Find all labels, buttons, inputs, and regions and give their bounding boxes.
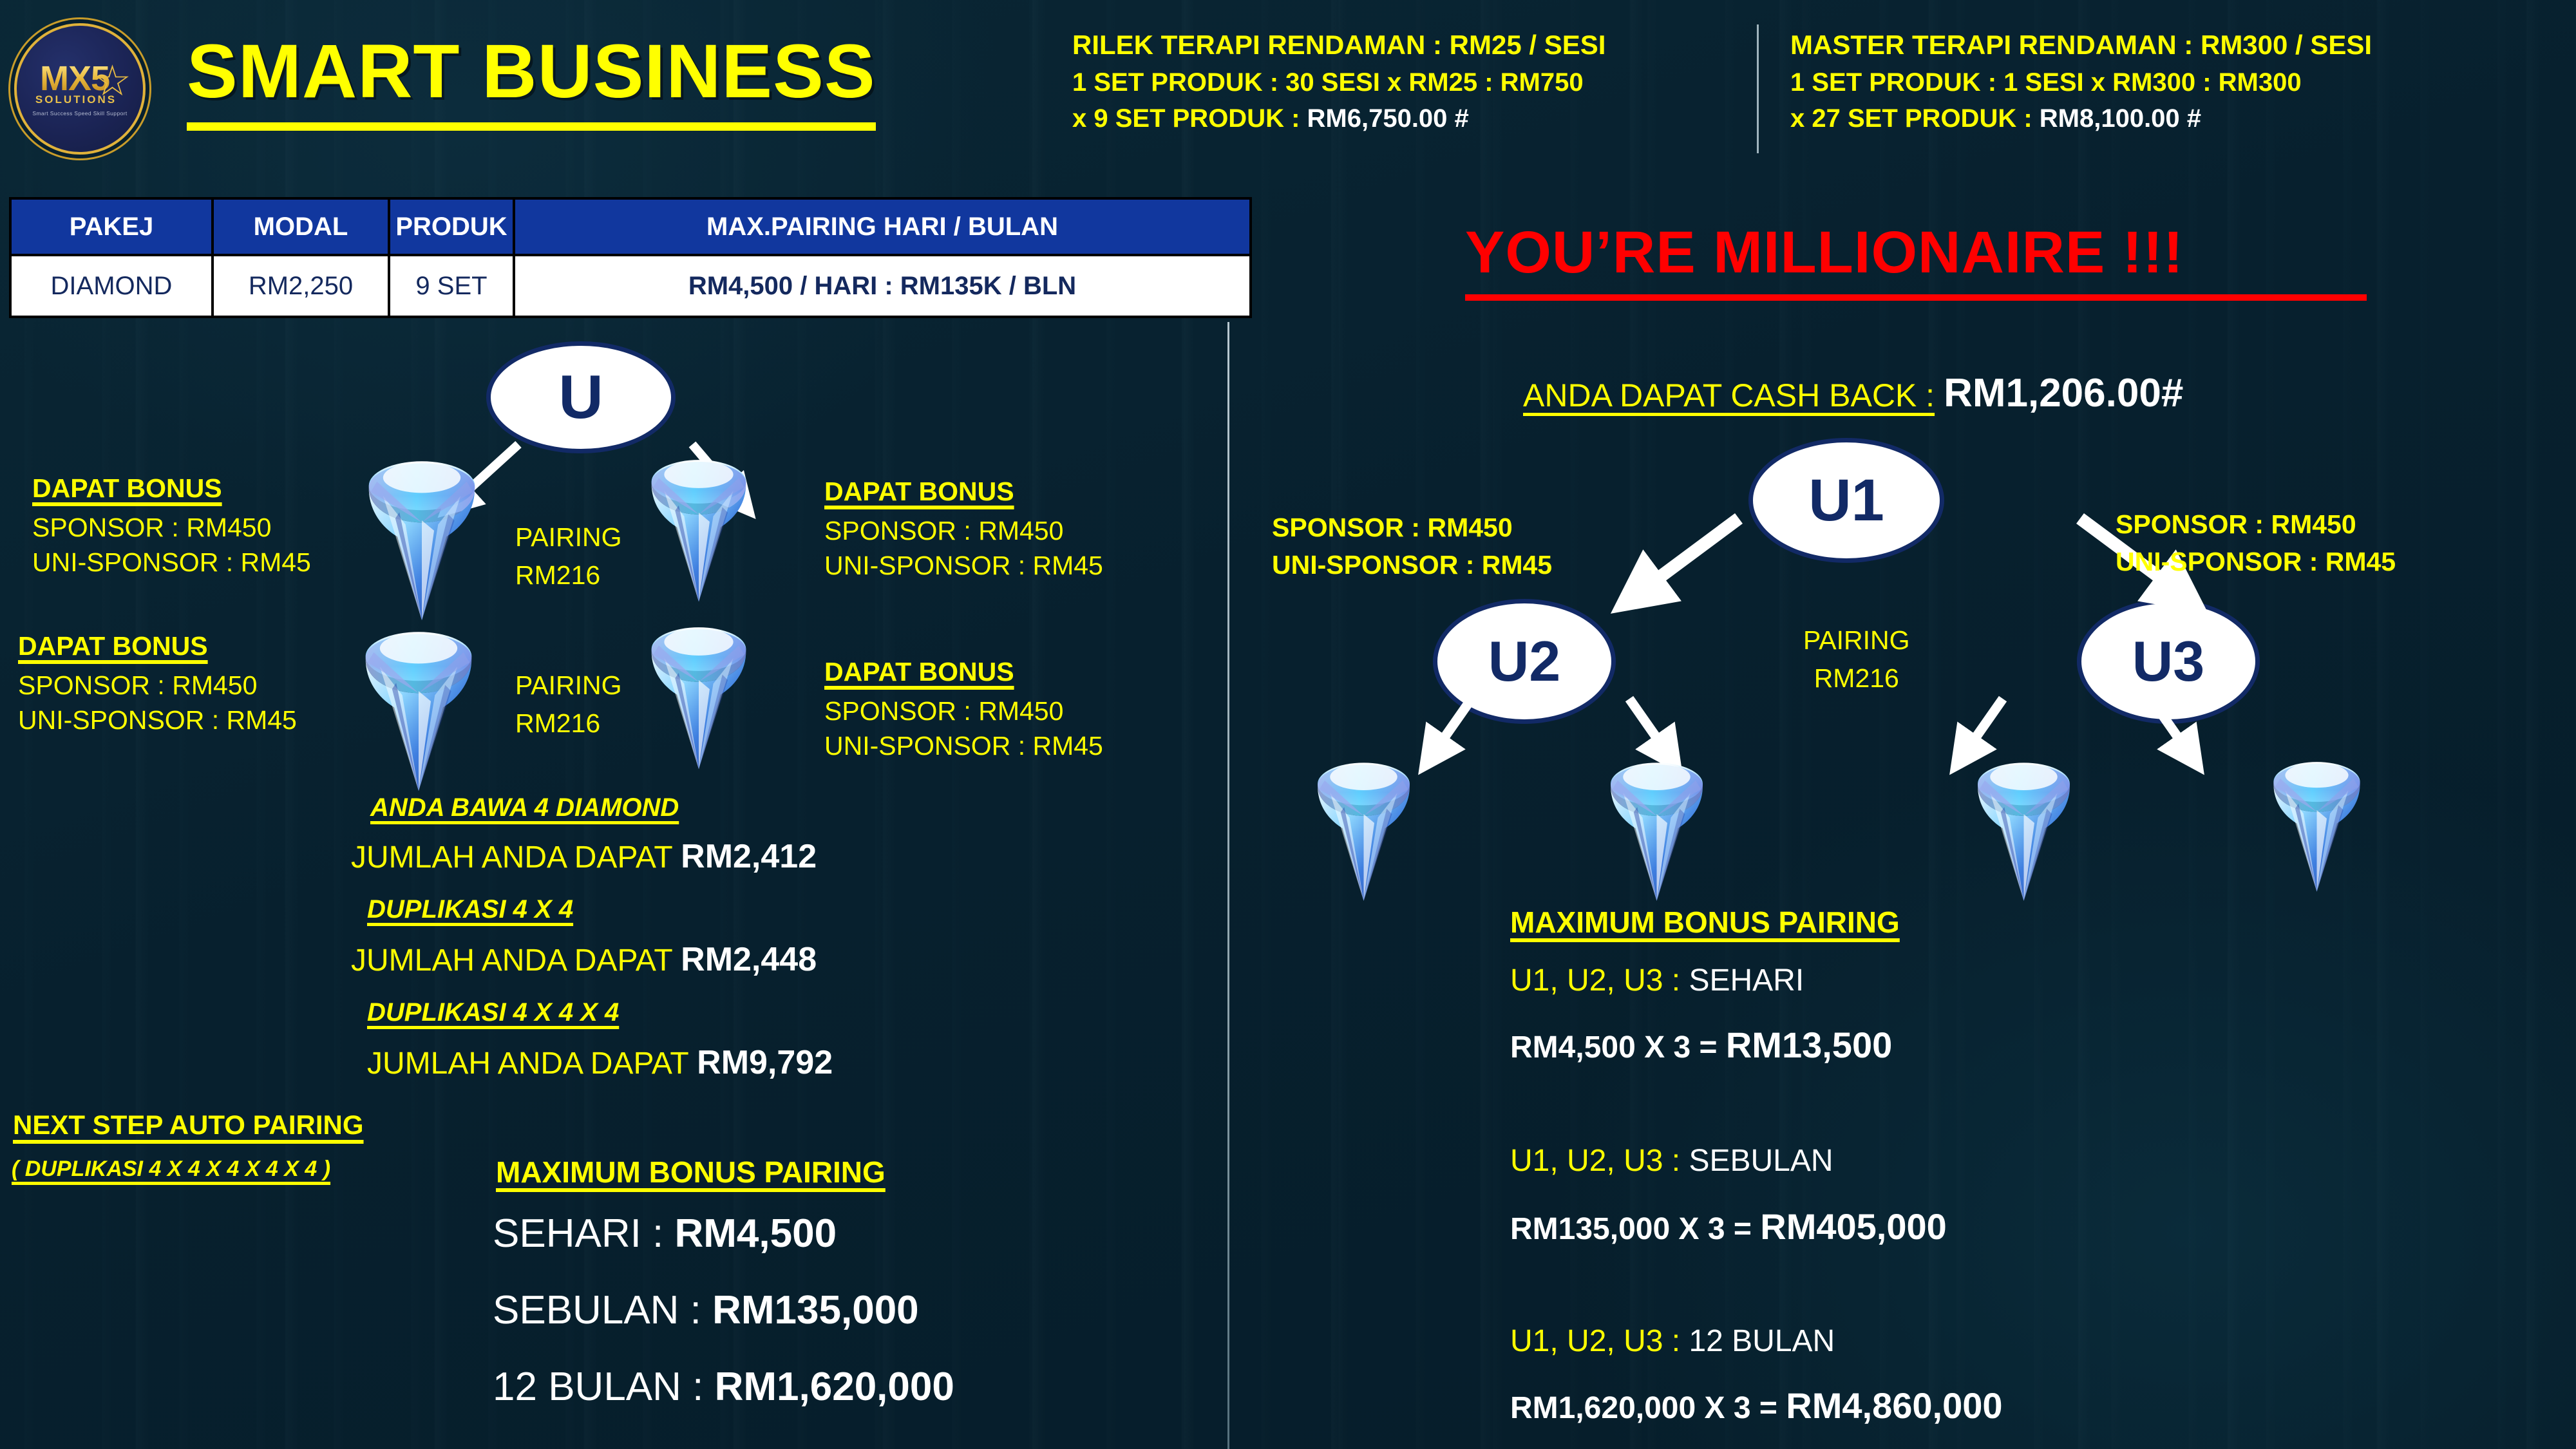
right-max-row-1-calc: RM4,500 X 3 = RM13,500	[1510, 1024, 1892, 1066]
pairing-value-2: RM216	[515, 705, 622, 743]
header-box-master: MASTER TERAPI RENDAMAN : RM300 / SESI 1 …	[1790, 26, 2372, 137]
right-max-bonus-title: MAXIMUM BONUS PAIRING	[1510, 905, 1900, 940]
left-max-row-3-label: 12 BULAN :	[493, 1365, 715, 1409]
package-table: PAKEJ MODAL PRODUK MAX.PAIRING HARI / BU…	[9, 197, 1252, 318]
left-max-row-3: 12 BULAN : RM1,620,000	[493, 1364, 954, 1410]
node-u-label: U	[558, 362, 603, 433]
rilek-total-value: RM6,750.00 #	[1307, 104, 1469, 133]
diamond-icon-3	[357, 621, 480, 795]
logo-tagline: Smart Success Speed Skill Support	[32, 110, 127, 117]
left-max-row-3-value: RM1,620,000	[715, 1365, 954, 1409]
bonus-block-1: DAPAT BONUS SPONSOR : RM450 UNI-SPONSOR …	[32, 473, 311, 580]
left-max-row-2: SEBULAN : RM135,000	[493, 1287, 919, 1333]
bonus-title-1: DAPAT BONUS	[32, 473, 311, 504]
summary-bawa-label: ANDA BAWA 4 DIAMOND	[370, 793, 679, 822]
right-max-row-2-result: RM405,000	[1760, 1206, 1947, 1247]
pairing-value-1: RM216	[515, 556, 622, 594]
diamond-icon-7	[1971, 753, 2077, 905]
summary-jumlah-1-label: JUMLAH ANDA DAPAT	[351, 840, 681, 875]
summary-dup-3: DUPLIKASI 4 X 4 X 4	[367, 998, 619, 1027]
table-row: DIAMOND RM2,250 9 SET RM4,500 / HARI : R…	[10, 255, 1251, 317]
right-pairing-text: PAIRING	[1803, 621, 1910, 659]
pairing-label-left-1: PAIRING RM216	[515, 518, 622, 595]
master-total-value: RM8,100.00 #	[2040, 104, 2201, 133]
left-max-row-2-value: RM135,000	[712, 1288, 919, 1332]
header-divider	[1757, 24, 1759, 153]
left-max-row-1-value: RM4,500	[675, 1211, 837, 1256]
cashback-label: ANDA DAPAT CASH BACK :	[1523, 377, 1935, 414]
summary-dup-3-label: DUPLIKASI 4 X 4 X 4	[367, 998, 619, 1027]
summary-jumlah-2-value: RM2,448	[681, 941, 817, 978]
master-set-line: 1 SET PRODUK : 1 SESI x RM300 : RM300	[1790, 64, 2372, 101]
left-max-row-2-label: SEBULAN :	[493, 1288, 712, 1332]
table-header-produk: PRODUK	[389, 198, 514, 255]
right-max-row-2-calc: RM135,000 X 3 = RM405,000	[1510, 1206, 1947, 1247]
pairing-text-2: PAIRING	[515, 667, 622, 705]
page-title-text: SMART BUSINESS	[187, 33, 876, 109]
bonus-title-4: DAPAT BONUS	[824, 657, 1103, 687]
right-max-row-1-label: U1, U2, U3 : SEHARI	[1510, 963, 1804, 998]
summary-dup-2: DUPLIKASI 4 X 4	[367, 895, 573, 924]
right-max-row-1-period: SEHARI	[1689, 963, 1804, 998]
right-sponsor-right-uni: UNI-SPONSOR : RM45	[2116, 543, 2396, 580]
pairing-label-left-2: PAIRING RM216	[515, 667, 622, 743]
panel-divider	[1227, 322, 1229, 1449]
diamond-icon-1	[361, 451, 483, 625]
diamond-icon-5	[1311, 753, 1417, 905]
right-max-row-1-result: RM13,500	[1726, 1025, 1892, 1065]
bonus-unisponsor-3: UNI-SPONSOR : RM45	[824, 548, 1103, 583]
master-total-line: x 27 SET PRODUK : RM8,100.00 #	[1790, 100, 2372, 137]
table-header-pairing: MAX.PAIRING HARI / BULAN	[514, 198, 1251, 255]
diamond-icon-4	[644, 618, 753, 773]
diamond-icon-2	[644, 451, 753, 605]
summary-jumlah-3-value: RM9,792	[697, 1044, 833, 1081]
cashback-row: ANDA DAPAT CASH BACK : RM1,206.00#	[1523, 370, 2183, 416]
diamond-icon-6	[1604, 753, 1710, 905]
summary-jumlah-2-label: JUMLAH ANDA DAPAT	[351, 943, 681, 978]
slide-canvas: ☆ MX5 SOLUTIONS Smart Success Speed Skil…	[0, 0, 2576, 1449]
cell-produk: 9 SET	[389, 255, 514, 317]
summary-jumlah-3: JUMLAH ANDA DAPAT RM9,792	[367, 1043, 833, 1082]
bonus-unisponsor-2: UNI-SPONSOR : RM45	[18, 703, 297, 737]
right-sponsor-right: SPONSOR : RM450 UNI-SPONSOR : RM45	[2116, 506, 2396, 580]
right-sponsor-left-uni: UNI-SPONSOR : RM45	[1272, 546, 1552, 583]
bonus-block-2: DAPAT BONUS SPONSOR : RM450 UNI-SPONSOR …	[18, 631, 297, 737]
bonus-unisponsor-1: UNI-SPONSOR : RM45	[32, 545, 311, 580]
right-max-row-1-expr: RM4,500 X 3 =	[1510, 1030, 1726, 1065]
right-sponsor-right-sponsor: SPONSOR : RM450	[2116, 506, 2396, 543]
brand-logo: ☆ MX5 SOLUTIONS Smart Success Speed Skil…	[14, 23, 146, 155]
cashback-value: RM1,206.00#	[1944, 370, 2183, 416]
right-max-row-3-label: U1, U2, U3 : 12 BULAN	[1510, 1323, 1835, 1359]
bonus-sponsor-4: SPONSOR : RM450	[824, 694, 1103, 728]
right-max-row-3-expr: RM1,620,000 X 3 =	[1510, 1391, 1786, 1425]
rilek-price-line: RILEK TERAPI RENDAMAN : RM25 / SESI	[1072, 26, 1605, 64]
right-max-row-3-calc: RM1,620,000 X 3 = RM4,860,000	[1510, 1385, 2003, 1426]
table-header-modal: MODAL	[213, 198, 389, 255]
pairing-text-1: PAIRING	[515, 518, 622, 556]
header-box-rilek: RILEK TERAPI RENDAMAN : RM25 / SESI 1 SE…	[1072, 26, 1605, 137]
rilek-total-label: x 9 SET PRODUK :	[1072, 104, 1307, 133]
summary-jumlah-2: JUMLAH ANDA DAPAT RM2,448	[351, 940, 817, 979]
node-u: U	[486, 341, 676, 453]
right-max-row-2-period: SEBULAN	[1689, 1144, 1833, 1178]
bonus-block-4: DAPAT BONUS SPONSOR : RM450 UNI-SPONSOR …	[824, 657, 1103, 763]
bonus-unisponsor-4: UNI-SPONSOR : RM45	[824, 728, 1103, 763]
right-max-row-1-users: U1, U2, U3 :	[1510, 963, 1689, 998]
bonus-block-3: DAPAT BONUS SPONSOR : RM450 UNI-SPONSOR …	[824, 477, 1103, 583]
right-max-row-3-result: RM4,860,000	[1786, 1385, 2002, 1426]
title-underline	[187, 122, 876, 131]
right-max-row-3-period: 12 BULAN	[1689, 1324, 1835, 1358]
rilek-set-line: 1 SET PRODUK : 30 SESI x RM25 : RM750	[1072, 64, 1605, 101]
next-step-title: NEXT STEP AUTO PAIRING	[13, 1110, 364, 1141]
node-u2-label: U2	[1488, 629, 1561, 694]
millionaire-underline	[1465, 294, 2367, 301]
left-max-bonus-title: MAXIMUM BONUS PAIRING	[496, 1155, 885, 1189]
right-pairing-label: PAIRING RM216	[1803, 621, 1910, 698]
cell-max-pairing: RM4,500 / HARI : RM135K / BLN	[514, 255, 1251, 317]
summary-bawa: ANDA BAWA 4 DIAMOND	[370, 793, 679, 822]
master-total-label: x 27 SET PRODUK :	[1790, 104, 2040, 133]
table-header-pakej: PAKEJ	[10, 198, 213, 255]
left-max-row-1: SEHARI : RM4,500	[493, 1211, 837, 1256]
right-max-row-2-expr: RM135,000 X 3 =	[1510, 1212, 1760, 1246]
summary-dup-2-label: DUPLIKASI 4 X 4	[367, 895, 573, 923]
next-step-subtitle: ( DUPLIKASI 4 X 4 X 4 X 4 X 4 )	[12, 1157, 330, 1182]
bonus-sponsor-1: SPONSOR : RM450	[32, 510, 311, 545]
bonus-title-2: DAPAT BONUS	[18, 631, 297, 661]
master-price-line: MASTER TERAPI RENDAMAN : RM300 / SESI	[1790, 26, 2372, 64]
cell-modal: RM2,250	[213, 255, 389, 317]
right-tree-arrows-bottom	[1346, 692, 2280, 808]
rilek-total-line: x 9 SET PRODUK : RM6,750.00 #	[1072, 100, 1605, 137]
page-title: SMART BUSINESS	[187, 33, 876, 131]
table-header-row: PAKEJ MODAL PRODUK MAX.PAIRING HARI / BU…	[10, 198, 1251, 255]
right-max-row-2-users: U1, U2, U3 :	[1510, 1144, 1689, 1178]
right-pairing-value: RM216	[1803, 659, 1910, 697]
cell-pakej: DIAMOND	[10, 255, 213, 317]
right-sponsor-left: SPONSOR : RM450 UNI-SPONSOR : RM45	[1272, 509, 1552, 583]
right-max-row-2-label: U1, U2, U3 : SEBULAN	[1510, 1143, 1833, 1179]
diamond-icon-8	[2267, 753, 2367, 895]
summary-jumlah-3-label: JUMLAH ANDA DAPAT	[367, 1046, 697, 1081]
bonus-sponsor-3: SPONSOR : RM450	[824, 513, 1103, 548]
millionaire-headline: YOU’RE MILLIONAIRE !!!	[1465, 219, 2367, 301]
right-sponsor-left-sponsor: SPONSOR : RM450	[1272, 509, 1552, 546]
bonus-sponsor-2: SPONSOR : RM450	[18, 668, 297, 703]
summary-jumlah-1: JUMLAH ANDA DAPAT RM2,412	[351, 837, 817, 876]
bonus-title-3: DAPAT BONUS	[824, 477, 1103, 507]
millionaire-headline-text: YOU’RE MILLIONAIRE !!!	[1465, 219, 2367, 287]
right-max-row-3-users: U1, U2, U3 :	[1510, 1324, 1689, 1358]
star-icon: ☆	[93, 59, 131, 102]
left-max-row-1-label: SEHARI :	[493, 1211, 675, 1256]
summary-jumlah-1-value: RM2,412	[681, 838, 817, 875]
